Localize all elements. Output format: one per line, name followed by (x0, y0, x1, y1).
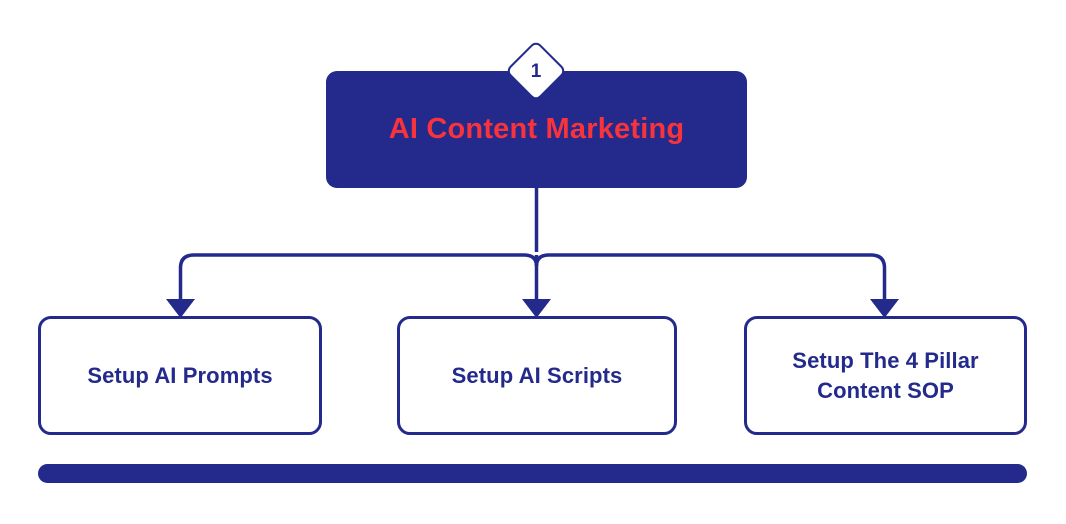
child-node-setup-ai-prompts[interactable]: Setup AI Prompts (38, 316, 322, 435)
connector-bus-right (537, 255, 885, 310)
child-node-setup-the-4-pillar-content-sop[interactable]: Setup The 4 Pillar Content SOP (744, 316, 1027, 435)
child-node-label: Setup AI Prompts (87, 361, 272, 390)
child-node-label: Setup AI Scripts (452, 361, 623, 390)
connector-bus-left (181, 255, 537, 310)
step-number-label: 1 (506, 41, 566, 101)
footer-bar (38, 464, 1027, 483)
flowchart-canvas: AI Content Marketing 1 Setup AI Prompts … (0, 0, 1066, 524)
child-node-setup-ai-scripts[interactable]: Setup AI Scripts (397, 316, 677, 435)
step-badge: 1 (506, 41, 566, 101)
root-node-label: AI Content Marketing (389, 114, 685, 146)
child-node-label: Setup The 4 Pillar Content SOP (761, 346, 1010, 404)
